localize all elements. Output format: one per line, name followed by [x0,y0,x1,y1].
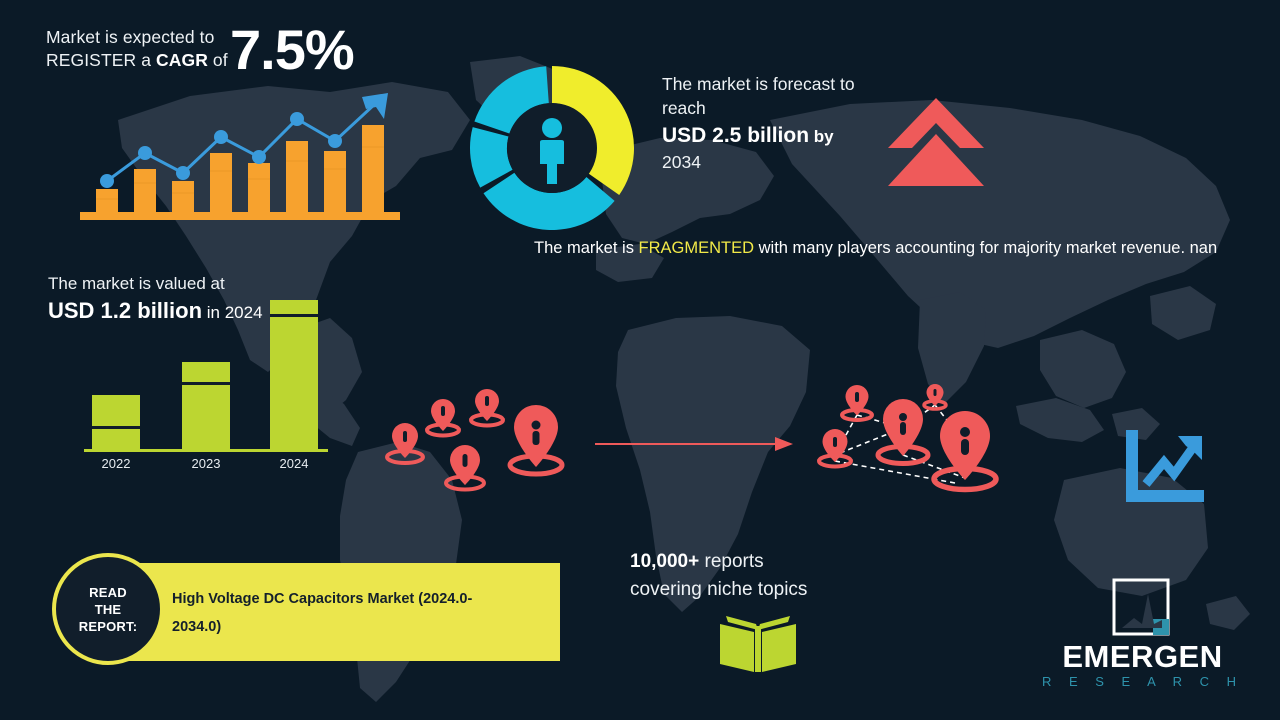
market-value-label-2023: 2023 [171,456,241,471]
map-pin-icon [446,445,484,490]
map-pin-icon [842,385,872,420]
read-report-banner[interactable]: High Voltage DC Capacitors Market (2024.… [107,563,560,661]
map-pin-icon [427,399,459,436]
emergen-research-logo: EMERGEN R E S E A R C H [1040,578,1245,693]
read-label-line2: THE [95,602,122,617]
logo-mark-icon [1112,578,1170,636]
chart-baseline [80,212,400,220]
market-value-label-2022: 2022 [81,456,151,471]
reports-line2: covering niche topics [630,579,807,600]
forecast-value-suffix: by [809,127,834,146]
read-label-line3: REPORT: [79,619,137,634]
right-arrow-icon [595,435,795,453]
map-pin-icon [387,423,423,463]
cagr-line-1: Market is expected to [46,27,214,47]
trend-arrow-head [362,93,388,119]
fragmentation-statement: The market is FRAGMENTED with many playe… [534,236,1234,261]
market-value-label-2024: 2024 [259,456,329,471]
map-pin-icon [934,411,996,490]
reports-count-block: 10,000+ reports covering niche topics [630,548,890,604]
map-pin-icon [878,399,928,464]
market-share-donut [462,58,642,238]
map-pin-icon [510,405,562,474]
cagr-caption: Market is expected to REGISTER a CAGR of [46,20,230,72]
market-value-bars [72,290,332,455]
market-value-chart: 2022 2023 2024 [72,290,332,475]
cagr-keyword: CAGR [156,50,208,70]
forecast-value-row: USD 2.5 billion by [662,122,892,151]
cagr-block: Market is expected to REGISTER a CAGR of… [46,20,466,80]
open-book-icon [718,612,798,674]
forecast-block: The market is forecast to reach USD 2.5 … [662,72,892,173]
reports-count: 10,000+ [630,551,699,572]
forecast-lead: The market is forecast to reach [662,72,892,120]
fragmented-highlight: FRAGMENTED [639,239,755,257]
logo-secondary-text: R E S E A R C H [1040,674,1245,690]
reports-line1-rest: reports [699,551,763,572]
cagr-value: 7.5% [230,20,354,80]
pin-cluster-fragmented [375,385,585,500]
fragmented-pre: The market is [534,239,639,257]
forecast-value: USD 2.5 billion [662,124,809,147]
read-label-line1: READ [89,585,127,600]
line-chart-growth-icon [1120,428,1208,508]
report-title: High Voltage DC Capacitors Market (2024.… [172,585,502,641]
double-chevron-up-icon [884,96,988,188]
read-report-label: READ THE REPORT: [79,584,137,635]
infographic-canvas: Market is expected to REGISTER a CAGR of… [0,0,1280,720]
cagr-line-2-post: of [208,50,228,70]
cagr-line-2-pre: REGISTER a [46,50,156,70]
logo-primary-text: EMERGEN [1040,640,1245,674]
growth-trend-chart [66,85,416,225]
forecast-year: 2034 [662,151,892,173]
read-report-badge[interactable]: READ THE REPORT: [52,553,164,665]
map-pin-icon [924,384,946,409]
map-pin-icon [471,389,503,426]
fragmented-post: with many players accounting for majorit… [754,239,1217,257]
pin-cluster-networked [805,383,1020,503]
